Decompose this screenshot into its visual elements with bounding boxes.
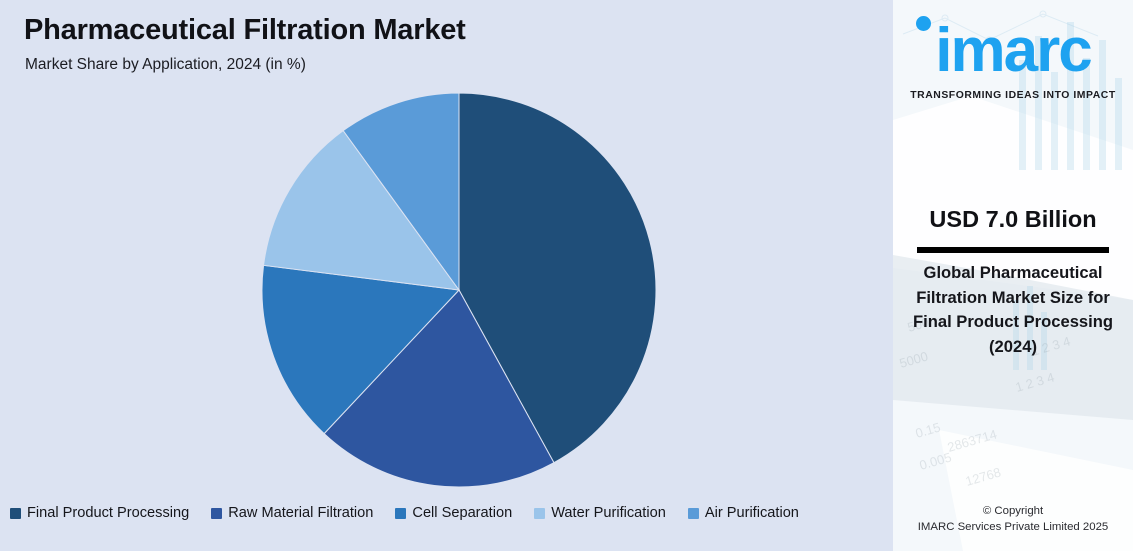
legend-item-label: Final Product Processing bbox=[27, 505, 189, 521]
pie-chart bbox=[261, 92, 657, 488]
logo-tagline: TRANSFORMING IDEAS INTO IMPACT bbox=[893, 90, 1133, 101]
legend-swatch-icon bbox=[534, 508, 545, 519]
legend-item[interactable]: Water Purification bbox=[534, 505, 666, 521]
divider-rule bbox=[917, 247, 1109, 253]
chart-legend: Final Product ProcessingRaw Material Fil… bbox=[10, 500, 890, 526]
market-value-headline: USD 7.0 Billion bbox=[893, 206, 1133, 233]
copyright-notice: © Copyright IMARC Services Private Limit… bbox=[893, 504, 1133, 535]
page-title: Pharmaceutical Filtration Market bbox=[24, 14, 466, 47]
svg-text:12768: 12768 bbox=[964, 464, 1003, 488]
legend-item[interactable]: Air Purification bbox=[688, 505, 799, 521]
legend-swatch-icon bbox=[395, 508, 406, 519]
chart-subtitle: Market Share by Application, 2024 (in %) bbox=[25, 56, 306, 74]
legend-item[interactable]: Final Product Processing bbox=[10, 505, 189, 521]
imarc-logo: imarc TRANSFORMING IDEAS INTO IMPACT bbox=[893, 8, 1133, 108]
legend-swatch-icon bbox=[10, 508, 21, 519]
logo-wordmark: imarc bbox=[893, 20, 1133, 82]
legend-swatch-icon bbox=[211, 508, 222, 519]
svg-text:1 2 3 4: 1 2 3 4 bbox=[1014, 370, 1056, 395]
legend-item[interactable]: Cell Separation bbox=[395, 505, 512, 521]
legend-item-label: Air Purification bbox=[705, 505, 799, 521]
legend-item-label: Water Purification bbox=[551, 505, 666, 521]
pie-chart-svg bbox=[261, 92, 657, 488]
svg-text:0.005: 0.005 bbox=[918, 449, 953, 472]
legend-item-label: Cell Separation bbox=[412, 505, 512, 521]
legend-item[interactable]: Raw Material Filtration bbox=[211, 505, 373, 521]
legend-item-label: Raw Material Filtration bbox=[228, 505, 373, 521]
svg-text:0.15: 0.15 bbox=[914, 419, 942, 440]
copyright-line-1: © Copyright bbox=[893, 504, 1133, 520]
summary-panel: 0.15 2863714 0.005 12768 500 5000 1 2 3 … bbox=[893, 0, 1133, 551]
market-value-description: Global Pharmaceutical Filtration Market … bbox=[901, 261, 1125, 359]
pie-slice-group bbox=[262, 93, 656, 487]
chart-panel: Pharmaceutical Filtration Market Market … bbox=[0, 0, 893, 551]
copyright-line-2: IMARC Services Private Limited 2025 bbox=[893, 520, 1133, 536]
infographic-page: Pharmaceutical Filtration Market Market … bbox=[0, 0, 1133, 551]
svg-text:2863714: 2863714 bbox=[946, 427, 999, 455]
legend-swatch-icon bbox=[688, 508, 699, 519]
